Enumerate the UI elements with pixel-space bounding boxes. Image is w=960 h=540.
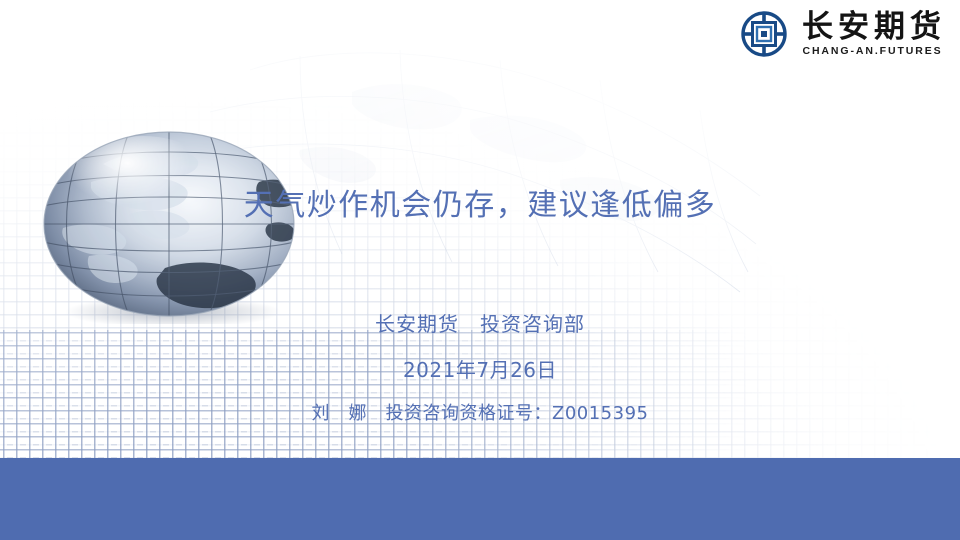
slide-author-credential: 刘 娜 投资咨询资格证号：Z0015395 bbox=[0, 399, 960, 425]
slide-date: 2021年7月26日 bbox=[0, 354, 960, 383]
slide-title: 天气炒作机会仍存，建议逢低偏多 bbox=[0, 180, 960, 224]
title-slide: 长安期货 CHANG-AN.FUTURES 天气炒作机会仍存，建议逢低偏多 长安… bbox=[0, 0, 960, 540]
chang-an-futures-emblem-icon bbox=[740, 10, 788, 58]
globe-graphic bbox=[33, 128, 305, 324]
bottom-accent-bar bbox=[0, 458, 960, 540]
logo-company-name-en: CHANG-AN.FUTURES bbox=[800, 45, 942, 57]
company-logo: 长安期货 CHANG-AN.FUTURES bbox=[740, 10, 946, 58]
slide-subtitle-department: 长安期货 投资咨询部 bbox=[0, 308, 960, 337]
background-square-grid-texture-lower bbox=[0, 330, 960, 465]
logo-wordmark: 长安期货 CHANG-AN.FUTURES bbox=[797, 11, 946, 58]
logo-company-name-cn: 长安期货 bbox=[797, 11, 946, 44]
